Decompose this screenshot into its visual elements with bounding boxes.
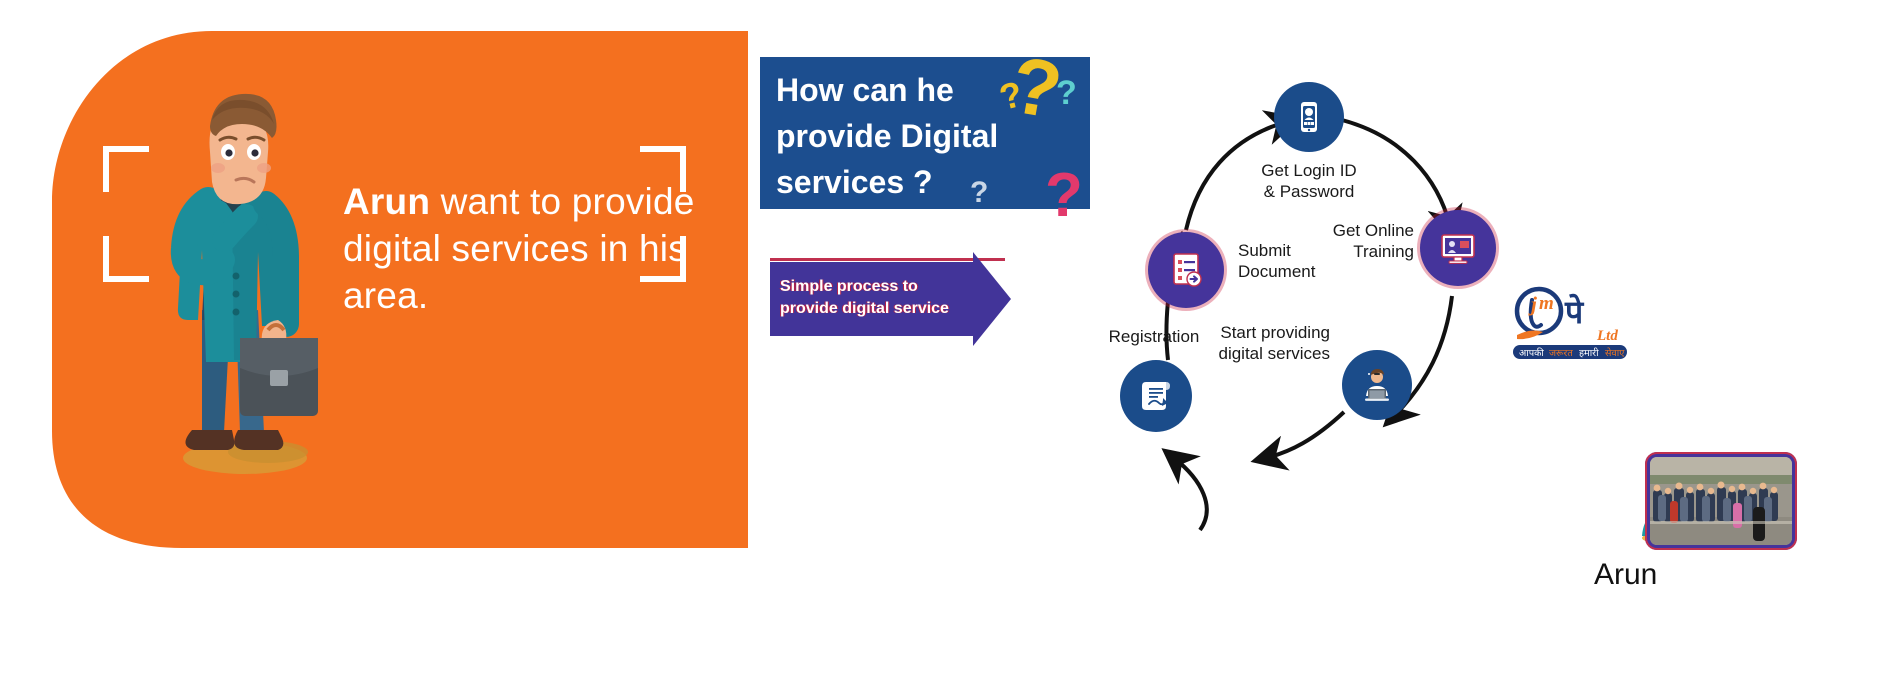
process-arrow-banner: Simple process to provide digital servic…: [770, 262, 1010, 336]
cycle-node-start-services[interactable]: [1342, 350, 1412, 420]
cycle-connector-arrows: [1090, 60, 1890, 680]
cycle-label-submit-document: Submit Document: [1238, 240, 1368, 282]
svg-text:सेवाए: सेवाए: [1605, 347, 1625, 359]
question-line-3: services ?: [776, 159, 1086, 205]
hero-name: Arun: [343, 181, 430, 222]
cycle-label-submit-document-line1: Submit: [1238, 240, 1368, 261]
thinking-businessman-illustration: [140, 80, 330, 490]
arrow-banner-text: Simple process to provide digital servic…: [780, 276, 970, 320]
customer-queue-photo-frame: [1645, 452, 1797, 550]
svg-text:पे: पे: [1564, 293, 1585, 330]
cycle-label-submit-document-line2: Document: [1238, 261, 1368, 282]
svg-text:हमारी: हमारी: [1579, 347, 1599, 359]
person-laptop-icon: [1358, 366, 1396, 404]
arrow-line-2: provide digital service: [780, 298, 970, 320]
process-cycle-diagram: Get Login ID & Password Get Online Train…: [1090, 60, 1890, 680]
document-signature-icon: [1138, 378, 1174, 414]
checklist-submit-icon: [1167, 251, 1205, 289]
question-mark-light-icon: ?: [970, 178, 988, 208]
cycle-label-online-training-line1: Get Online: [1268, 220, 1414, 241]
svg-text:जरूरत: जरूरत: [1549, 348, 1573, 359]
online-training-monitor-icon: [1439, 229, 1477, 267]
question-mark-teal-icon: ?: [1056, 76, 1077, 110]
crowd-photo: [1650, 457, 1792, 545]
mobile-login-icon: [1292, 100, 1326, 134]
arrow-accent-line: [770, 258, 1005, 261]
cycle-label-registration: Registration: [1084, 326, 1224, 347]
arrow-head-icon: [973, 252, 1011, 346]
cycle-label-registration-line1: Registration: [1084, 326, 1224, 347]
center-brand-logo: j m पे Ltd आपकी जरूरत हमारी सेवाए: [1505, 283, 1635, 367]
cycle-label-get-login: Get Login ID & Password: [1229, 160, 1389, 202]
cycle-node-registration[interactable]: [1120, 360, 1192, 432]
infographic-canvas: Arun want to provide digital services in…: [0, 0, 1900, 700]
question-mark-pink-icon: ?: [1045, 165, 1083, 227]
svg-text:आपकी: आपकी: [1519, 347, 1544, 359]
cycle-label-get-login-line2: & Password: [1229, 181, 1389, 202]
cycle-node-online-training[interactable]: [1420, 210, 1496, 286]
arrow-line-1: Simple process to: [780, 276, 970, 298]
page-title: Arun want to provide digital services in…: [343, 178, 703, 319]
svg-text:Ltd: Ltd: [1596, 328, 1618, 344]
svg-text:m: m: [1539, 293, 1554, 314]
cycle-node-submit-document[interactable]: [1148, 232, 1224, 308]
cycle-label-get-login-line1: Get Login ID: [1229, 160, 1389, 181]
actor-name-label: Arun: [1594, 558, 1657, 592]
cycle-node-get-login[interactable]: [1274, 82, 1344, 152]
